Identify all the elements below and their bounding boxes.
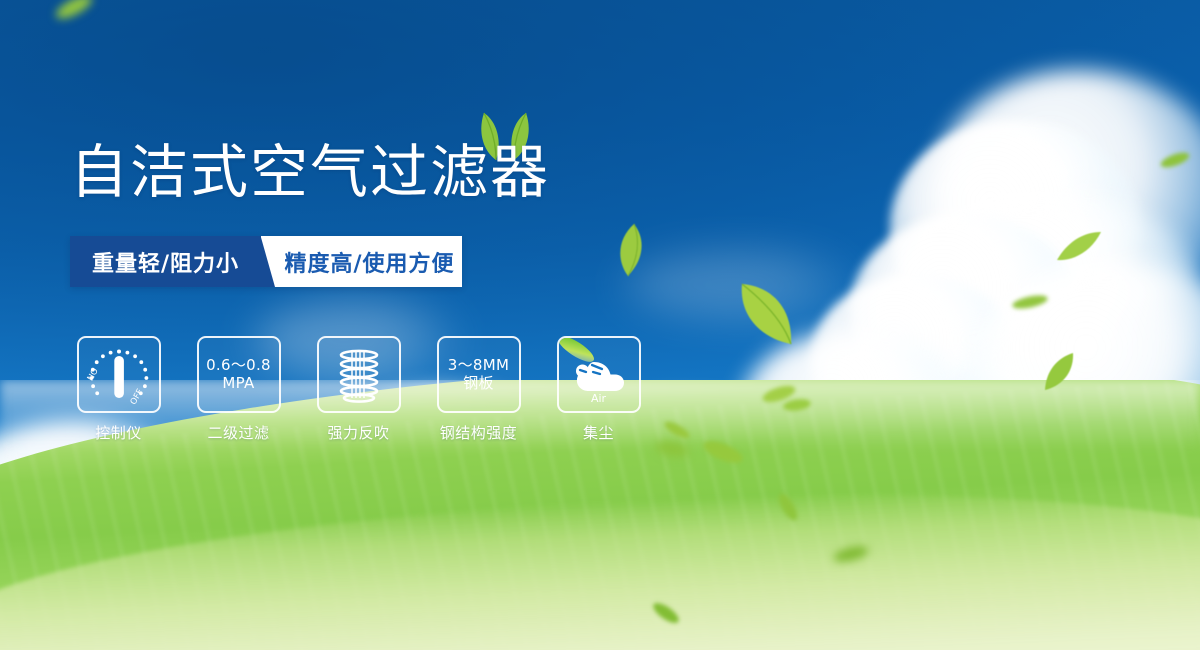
- floating-leaf-icon: [648, 600, 684, 626]
- green-streak-icon: [557, 336, 599, 368]
- pressure-text-icon-line2: MPA: [222, 375, 254, 392]
- filter-stack-icon: [330, 346, 388, 404]
- feature-box: 0.6〜0.8 MPA: [197, 336, 281, 413]
- feature-label: 二级过滤: [190, 422, 287, 443]
- feature-box: Air: [557, 336, 641, 413]
- feature-box: [317, 336, 401, 413]
- floating-leaf-icon: [770, 492, 806, 522]
- subtitle-left-panel: 重量轻/阻力小: [70, 236, 261, 287]
- svg-text:OFF: OFF: [128, 387, 145, 405]
- floating-leaf-icon: [1055, 228, 1103, 264]
- floating-leaf-icon: [700, 435, 746, 469]
- product-banner: 自洁式空气过滤器 重量轻/阻力小 精度高/使用方便: [0, 0, 1200, 650]
- pressure-text-icon-line1: 0.6〜0.8: [206, 357, 271, 374]
- page-title: 自洁式空气过滤器: [70, 143, 550, 201]
- feature-item-backblow[interactable]: 强力反吹: [310, 336, 407, 443]
- subtitle-left-text: 重量轻/阻力小: [92, 246, 239, 278]
- floating-leaf-icon: [1158, 148, 1192, 172]
- feature-list: NO OFF 控制仪 0.6〜0.8 MPA 二级过滤: [70, 336, 647, 443]
- subtitle-right-text: 精度高/使用方便: [284, 246, 454, 278]
- floating-leaf-icon: [52, 0, 96, 22]
- floating-leaf-icon: [830, 540, 872, 568]
- steel-plate-text-icon-line1: 3〜8MM: [448, 357, 509, 374]
- subtitle-right-panel: 精度高/使用方便: [261, 236, 462, 287]
- floating-leaf-icon: [735, 280, 797, 348]
- feature-label: 强力反吹: [310, 422, 407, 443]
- floating-leaf-icon: [612, 222, 648, 278]
- feature-label: 钢结构强度: [430, 422, 527, 443]
- steel-plate-text-icon-line2: 钢板: [463, 375, 494, 392]
- control-dial-icon: NO OFF: [86, 345, 152, 405]
- feature-item-steel[interactable]: 3〜8MM 钢板 钢结构强度: [430, 336, 527, 443]
- feature-box: NO OFF: [77, 336, 161, 413]
- floating-leaf-icon: [1010, 290, 1050, 314]
- feature-label: 集尘: [550, 422, 647, 443]
- floating-leaf-icon: [660, 418, 694, 442]
- feature-label: 控制仪: [70, 422, 167, 443]
- feature-item-dust-collection[interactable]: Air 集尘: [550, 336, 647, 443]
- feature-item-pressure[interactable]: 0.6〜0.8 MPA 二级过滤: [190, 336, 287, 443]
- feature-item-control-dial[interactable]: NO OFF 控制仪: [70, 336, 167, 443]
- floating-leaf-icon: [1040, 350, 1078, 392]
- floating-leaf-icon: [780, 392, 814, 418]
- svg-text:NO: NO: [86, 366, 101, 383]
- feature-box: 3〜8MM 钢板: [437, 336, 521, 413]
- air-label: Air: [559, 392, 639, 405]
- subtitle-bar: 重量轻/阻力小 精度高/使用方便: [70, 236, 462, 287]
